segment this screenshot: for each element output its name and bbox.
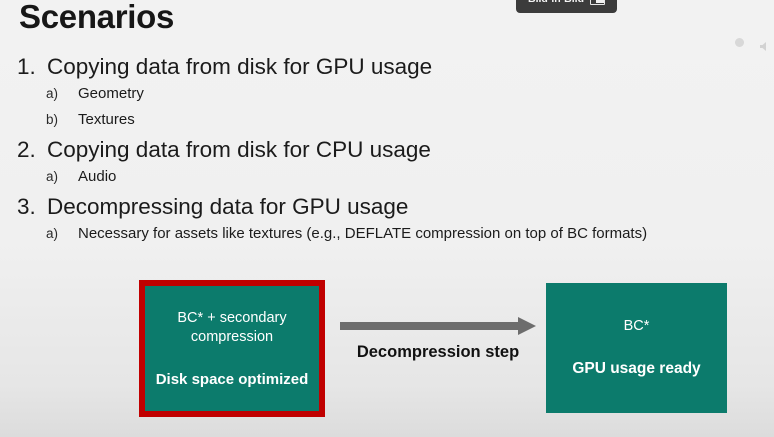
picture-in-picture-icon[interactable] (590, 0, 605, 5)
flow-box-target: BC* GPU usage ready (546, 283, 727, 413)
flow-arrow (340, 315, 536, 337)
buffer-dot-icon[interactable] (735, 38, 744, 47)
flow-box-source-top-label: BC* + secondary compression (145, 309, 319, 347)
flow-box-target-top-label: BC* (624, 317, 650, 336)
flow-box-target-bottom-label: GPU usage ready (572, 358, 700, 379)
flow-box-source-bottom-label: Disk space optimized (156, 369, 309, 390)
flow-arrow-label: Decompression step (340, 341, 536, 364)
speaker-icon[interactable] (760, 38, 770, 47)
picture-in-picture-tooltip[interactable]: Bild-in-Bild (516, 0, 617, 13)
arrow-right-icon (340, 315, 536, 337)
speaker-glyph (760, 42, 770, 51)
flow-box-source: BC* + secondary compression Disk space o… (139, 280, 325, 417)
flow-diagram: BC* + secondary compression Disk space o… (0, 0, 774, 437)
picture-in-picture-tooltip-label: Bild-in-Bild (528, 0, 584, 5)
